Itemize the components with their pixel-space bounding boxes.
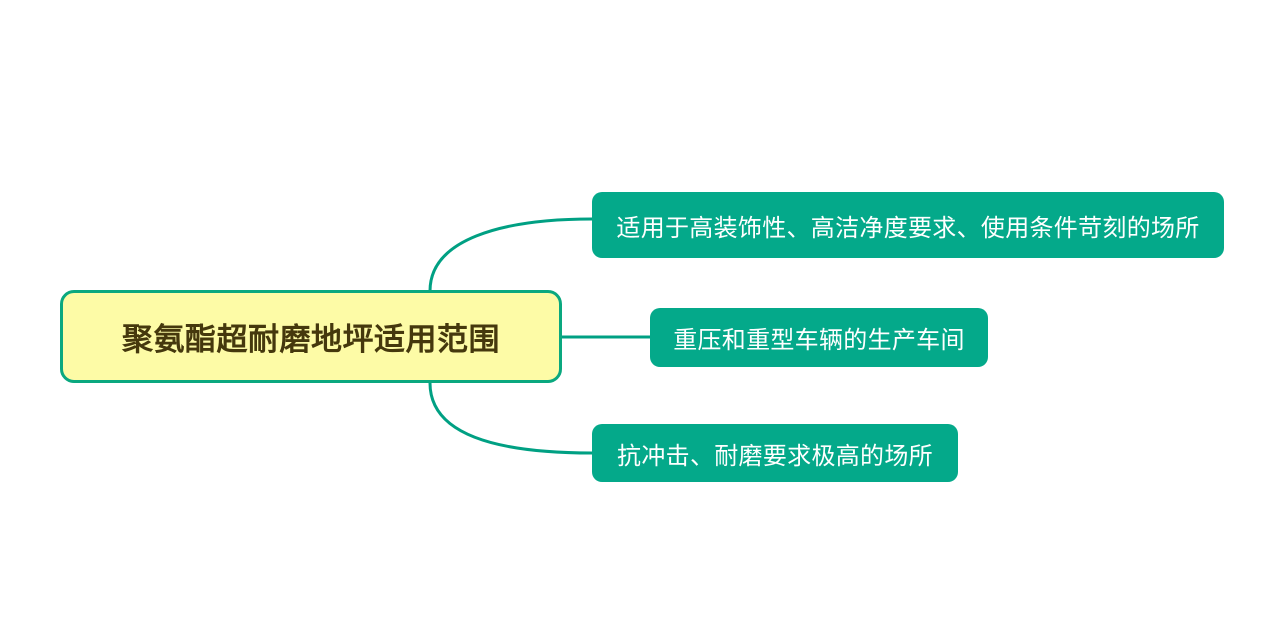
mind-map-canvas: 聚氨酯超耐磨地坪适用范围 适用于高装饰性、高洁净度要求、使用条件苛刻的场所 重压… (0, 0, 1281, 644)
branch-node-label: 适用于高装饰性、高洁净度要求、使用条件苛刻的场所 (616, 208, 1199, 243)
connector-root-to-branch-0 (430, 219, 592, 291)
root-node[interactable]: 聚氨酯超耐磨地坪适用范围 (60, 290, 562, 383)
branch-node-label: 重压和重型车辆的生产车间 (673, 320, 965, 355)
branch-node-heavy-load-workshop[interactable]: 重压和重型车辆的生产车间 (650, 308, 988, 367)
root-node-label: 聚氨酯超耐磨地坪适用范围 (122, 314, 500, 359)
branch-node-label: 抗冲击、耐磨要求极高的场所 (617, 436, 933, 471)
connector-root-to-branch-2 (430, 383, 592, 453)
branch-node-high-decorative[interactable]: 适用于高装饰性、高洁净度要求、使用条件苛刻的场所 (592, 192, 1224, 258)
branch-node-impact-wear-resistance[interactable]: 抗冲击、耐磨要求极高的场所 (592, 424, 958, 482)
